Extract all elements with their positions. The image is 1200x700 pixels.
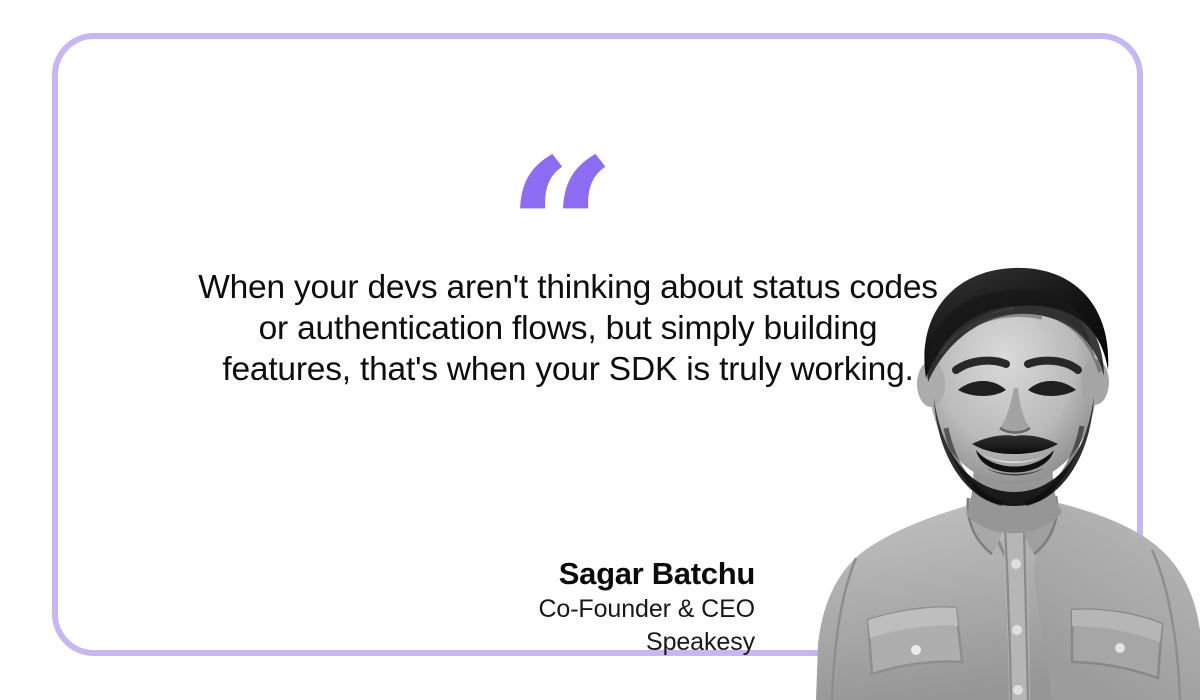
attribution-block: Sagar Batchu Co-Founder & CEO Speakesy — [538, 555, 755, 659]
author-role: Co-Founder & CEO — [538, 593, 755, 626]
author-name: Sagar Batchu — [538, 555, 755, 593]
testimonial-slide: “ When your devs aren't thinking about s… — [0, 0, 1200, 700]
portrait-photo — [816, 258, 1200, 700]
author-company: Speakesy — [538, 626, 755, 659]
